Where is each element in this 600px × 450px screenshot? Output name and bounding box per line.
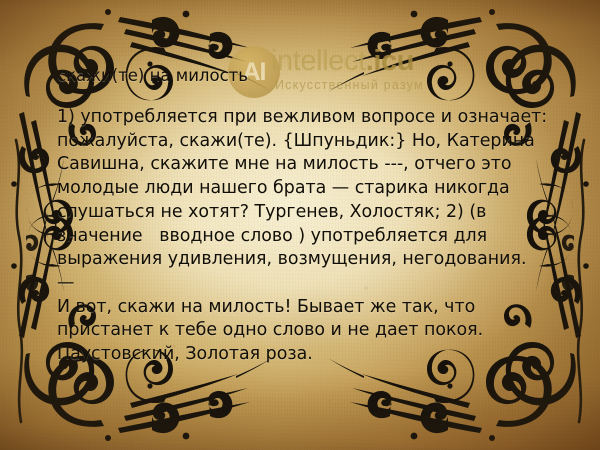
parchment-card: AI intellect.icu Искусственный разум ска… bbox=[0, 0, 600, 450]
entry-headword: скажи(те) на милость bbox=[57, 66, 248, 86]
entry-definition: 1) употребляется при вежливом вопросе и … bbox=[57, 106, 549, 367]
entry-content: скажи(те) на милость 1) употребляется пр… bbox=[0, 0, 600, 450]
